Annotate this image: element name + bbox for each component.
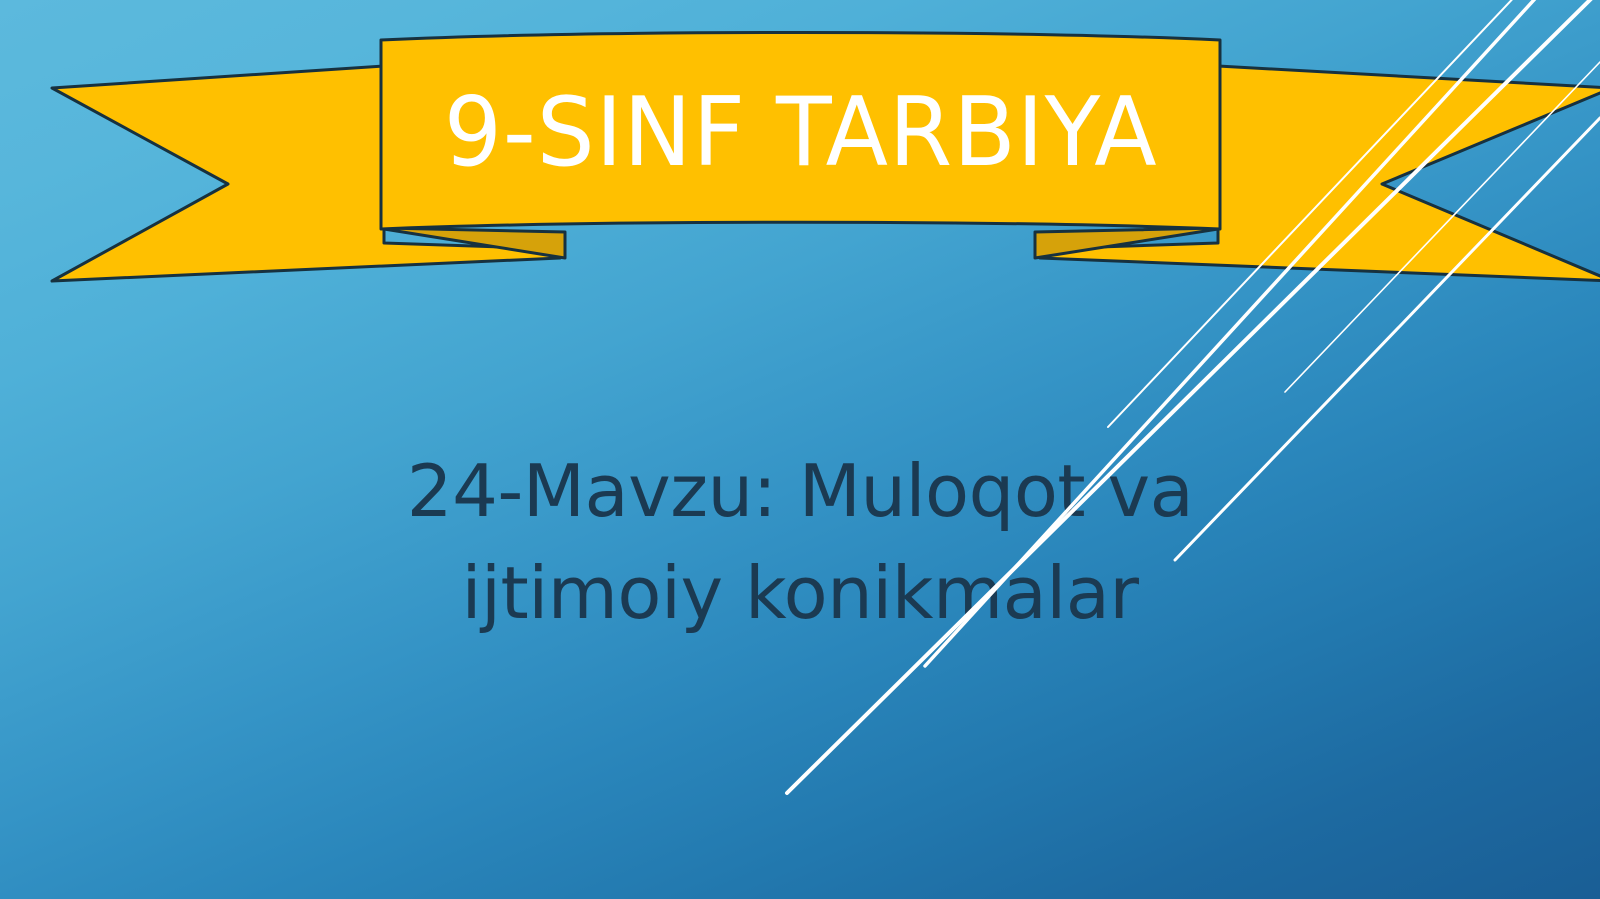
banner-title-text: 9-SINF TARBIYA: [444, 86, 1158, 181]
subtitle-line-1: 24-Mavzu: Muloqot va: [300, 440, 1300, 542]
slide-subtitle: 24-Mavzu: Muloqot va ijtimoiy konikmalar: [300, 440, 1300, 644]
presentation-slide: 9-SINF TARBIYA 24-Mavzu: Muloqot va ijti…: [0, 0, 1600, 899]
subtitle-line-2: ijtimoiy konikmalar: [300, 542, 1300, 644]
banner-title: 9-SINF TARBIYA: [381, 38, 1221, 228]
